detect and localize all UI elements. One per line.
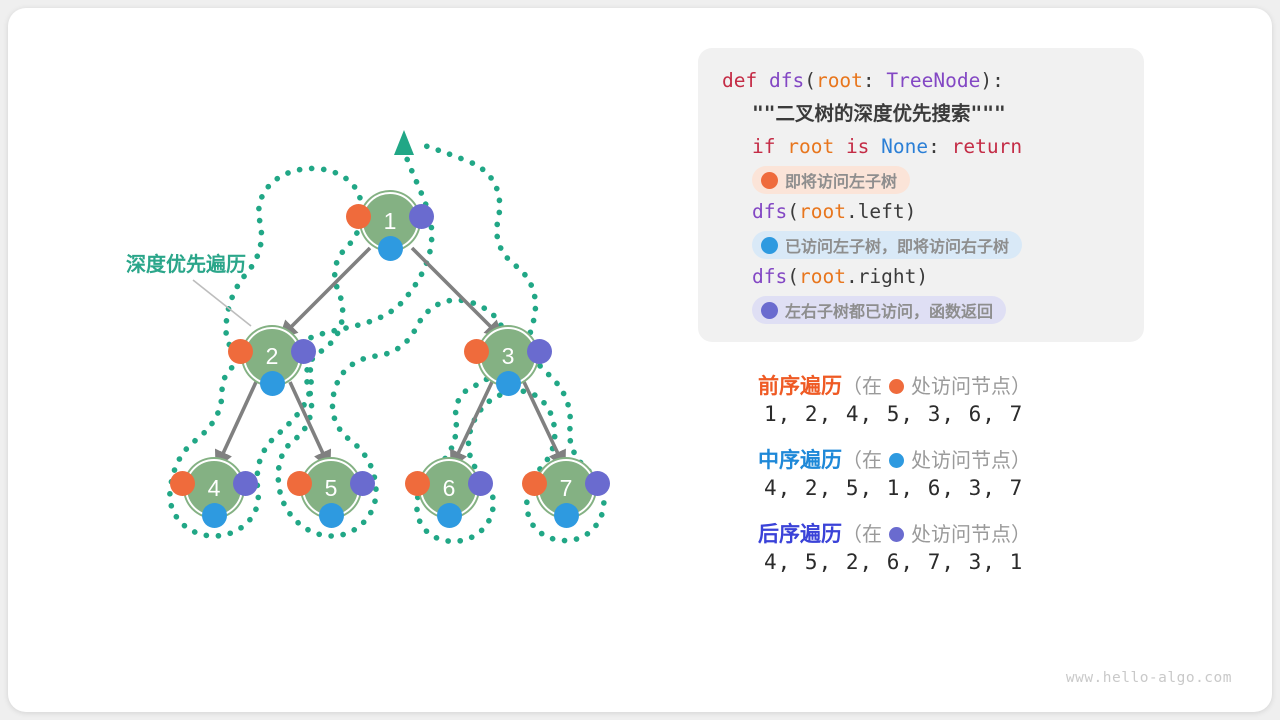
post-order-marker — [233, 471, 258, 496]
binary-tree-diagram: 深度优先遍历 1234567 — [8, 8, 698, 712]
code-token: ( — [787, 200, 799, 223]
traversal-note-close: 处访问节点） — [911, 451, 1031, 471]
tree-node-5: 5 — [288, 445, 374, 531]
traversal-heading: 中序遍历 （在处访问节点） — [758, 450, 1158, 471]
post-order-marker — [527, 339, 552, 364]
pre-order-dot-icon — [761, 172, 778, 189]
pre-order-marker — [464, 339, 489, 364]
code-token: None — [881, 135, 928, 158]
post-order-annotation: 左右子树都已访问，函数返回 — [752, 296, 1006, 324]
code-token: : — [928, 135, 951, 158]
post-order-marker — [468, 471, 493, 496]
in-order-marker — [554, 503, 579, 528]
code-line: if root is None: return — [698, 130, 1198, 163]
code-token: root — [799, 200, 846, 223]
in-order-marker — [496, 371, 521, 396]
code-token: root — [799, 265, 846, 288]
tree-node-7: 7 — [523, 445, 609, 531]
code-token: ( — [804, 69, 816, 92]
code-token: root — [787, 135, 846, 158]
code-token: dfs — [769, 69, 804, 92]
tree-node-3: 3 — [465, 313, 551, 399]
traversal-name: 后序遍历 — [758, 524, 842, 545]
traversal-sequence: 4, 2, 5, 1, 6, 3, 7 — [764, 476, 1158, 500]
code-block: def dfs(root: TreeNode):""二叉树的深度优先搜索"""i… — [698, 48, 1144, 342]
code-token: is — [846, 135, 881, 158]
post-order-dot-icon — [761, 302, 778, 319]
pre-order-marker — [346, 204, 371, 229]
traversal-sequence: 4, 5, 2, 6, 7, 3, 1 — [764, 550, 1158, 574]
code-token: dfs — [752, 265, 787, 288]
post-order-marker — [409, 204, 434, 229]
in-order-marker — [260, 371, 285, 396]
traversal-note-close: 处访问节点） — [911, 377, 1031, 397]
tree-node-6: 6 — [406, 445, 492, 531]
annotation-label: 即将访问左子树 — [785, 168, 897, 192]
entry-arrow-icon — [394, 130, 414, 155]
dfs-label: 深度优先遍历 — [126, 248, 246, 277]
traversal-name: 中序遍历 — [758, 450, 842, 471]
traversal-marker-icon — [889, 379, 904, 394]
post-order-marker — [350, 471, 375, 496]
pre-order-marker — [170, 471, 195, 496]
code-token: dfs — [752, 200, 787, 223]
code-token: : — [863, 69, 886, 92]
code-token: ): — [980, 69, 1003, 92]
traversal-note-open: （在 — [842, 451, 882, 471]
pre-order-marker — [522, 471, 547, 496]
illustration-card: 深度优先遍历 1234567 def dfs(root: TreeNode):"… — [8, 8, 1272, 712]
tree-node-2: 2 — [229, 313, 315, 399]
tree-node-1: 1 — [347, 178, 433, 264]
code-line: dfs(root.left) — [698, 195, 1198, 228]
traversal-sequence: 1, 2, 4, 5, 3, 6, 7 — [764, 402, 1158, 426]
traversal-heading: 前序遍历 （在处访问节点） — [758, 376, 1158, 397]
in-order-dot-icon — [761, 237, 778, 254]
code-token: .right) — [846, 265, 928, 288]
in-order-marker — [378, 236, 403, 261]
annotation-label: 已访问左子树，即将访问右子树 — [785, 233, 1009, 257]
in-order-annotation: 已访问左子树，即将访问右子树 — [752, 231, 1022, 259]
pre-order-annotation: 即将访问左子树 — [752, 166, 910, 194]
traversal-marker-icon — [889, 527, 904, 542]
code-line: def dfs(root: TreeNode): — [698, 64, 1168, 97]
traversal-results: 前序遍历 （在处访问节点）1, 2, 4, 5, 3, 6, 7中序遍历 （在处… — [758, 376, 1158, 598]
traversal-note-close: 处访问节点） — [911, 525, 1031, 545]
code-token: def — [722, 69, 769, 92]
tree-svg — [8, 8, 698, 712]
code-token: root — [816, 69, 863, 92]
in-order-marker — [437, 503, 462, 528]
code-token: ""二叉树的深度优先搜索""" — [752, 102, 1006, 125]
pre-order-marker — [228, 339, 253, 364]
traversal-heading: 后序遍历 （在处访问节点） — [758, 524, 1158, 545]
pre-order-marker — [405, 471, 430, 496]
code-line: dfs(root.right) — [698, 260, 1198, 293]
code-line: ""二叉树的深度优先搜索""" — [698, 97, 1198, 130]
code-token: if — [752, 135, 787, 158]
traversal-marker-icon — [889, 453, 904, 468]
annotation-label: 左右子树都已访问，函数返回 — [785, 298, 993, 322]
code-token: .left) — [846, 200, 916, 223]
code-token: ( — [787, 265, 799, 288]
post-order-marker — [291, 339, 316, 364]
post-order-marker — [585, 471, 610, 496]
in-order-marker — [319, 503, 344, 528]
traversal-name: 前序遍历 — [758, 376, 842, 397]
tree-node-4: 4 — [171, 445, 257, 531]
pre-order-marker — [287, 471, 312, 496]
watermark: www.hello-algo.com — [1066, 670, 1232, 686]
code-token: return — [952, 135, 1022, 158]
in-order-marker — [202, 503, 227, 528]
traversal-note-open: （在 — [842, 525, 882, 545]
code-token: TreeNode — [886, 69, 980, 92]
traversal-note-open: （在 — [842, 377, 882, 397]
